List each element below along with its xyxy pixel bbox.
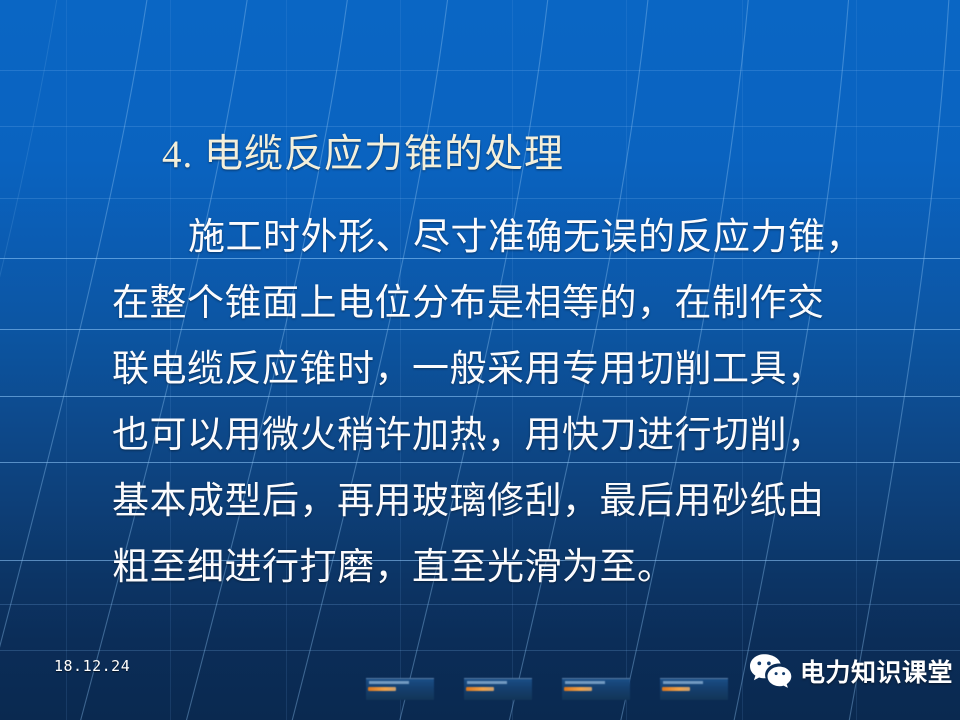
body-line: 粗至细进行打磨，直至光滑为至。 (112, 535, 872, 601)
slide-content: 4. 电缆反应力锥的处理 施工时外形、尽寸准确无误的反应力锥， 在整个锥面上电位… (0, 0, 960, 720)
slide-title: 4. 电缆反应力锥的处理 (162, 132, 564, 178)
slide-body: 施工时外形、尽寸准确无误的反应力锥， 在整个锥面上电位分布是相等的，在制作交 联… (112, 205, 872, 601)
date-stamp: 18.12.24 (54, 657, 130, 675)
body-line: 也可以用微火稍许加热，用快刀进行切削， (112, 403, 872, 469)
wechat-icon (748, 652, 792, 690)
body-line: 基本成型后，再用玻璃修刮，最后用砂纸由 (112, 469, 872, 535)
watermark-text: 电力知识课堂 (800, 653, 953, 689)
presentation-slide: 4. 电缆反应力锥的处理 施工时外形、尽寸准确无误的反应力锥， 在整个锥面上电位… (0, 0, 960, 720)
body-line: 在整个锥面上电位分布是相等的，在制作交 (112, 271, 872, 337)
watermark: 电力知识课堂 (748, 652, 953, 690)
body-line: 施工时外形、尽寸准确无误的反应力锥， (112, 205, 872, 271)
body-line: 联电缆反应锥时，一般采用专用切削工具， (112, 337, 872, 403)
